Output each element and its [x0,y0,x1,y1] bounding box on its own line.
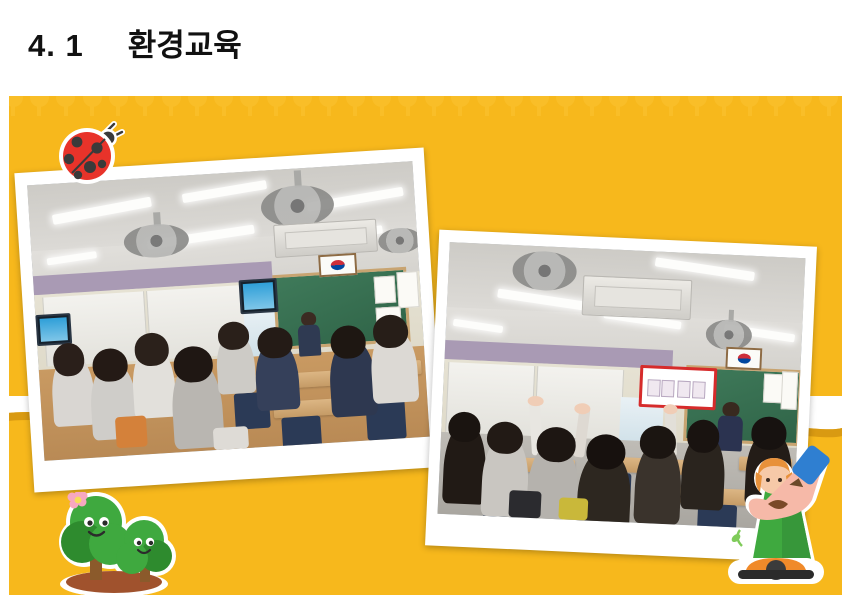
fan-blades [705,319,753,351]
student-head [640,425,677,459]
quiz-box [677,380,691,398]
fringe-dot-stem [380,102,384,116]
fringe-dot-stem [169,102,173,116]
fringe-dot-stem [432,102,436,116]
gardener-svg [712,442,840,594]
fringe-dot-stem [616,102,620,116]
fringe-dot-stem [222,102,226,116]
ceiling-ac-unit [582,275,693,320]
backpack [213,426,249,450]
fringe-dot-stem [801,102,805,116]
photo-left-image [27,161,430,461]
quiz-box [661,380,675,398]
teacher-head [722,401,740,416]
flag-circle [737,354,750,364]
fringe-dot-stem [564,102,568,116]
tree-foliage [116,542,148,574]
trees-svg [52,492,180,595]
fringe-dot-stem [485,102,489,116]
fan-blades [378,227,422,254]
pot-base [738,570,814,579]
gardener-eye [766,478,770,482]
trees-sticker: 나무 캐릭터 [52,492,180,595]
fringe-dot-stem [90,102,94,116]
tv-monitor [238,278,279,315]
ceiling-fan-icon [378,227,422,254]
ladybug-spot [91,142,102,153]
ladybug-spot [84,161,96,173]
ceiling-fan-icon [705,319,753,351]
fringe-dot-stem [511,102,515,116]
fringe-dot-stem [248,102,252,116]
fan-blades [512,250,578,291]
wall-papers [781,372,799,410]
tree-pupil [87,520,92,525]
fringe-dot-stem [695,102,699,116]
tree-pupil [137,541,141,545]
bottle-icon [789,444,831,488]
backpack [115,416,148,448]
wall-papers [373,276,396,304]
fringe-dot-stem [590,102,594,116]
left-page-margin [0,96,9,595]
ceiling-fan-icon [123,222,191,259]
fringe-dot-stem [274,102,278,116]
page-title-text: 환경교육 [128,20,242,65]
backpack [558,498,587,521]
fringe-dot-stem [301,102,305,116]
tree-pupil [149,541,153,545]
backpack [509,490,542,519]
chair [282,416,323,451]
fringe-dot-stem [748,102,752,116]
fringe-dot-stem [195,102,199,116]
photo-left-caption: 환경교육 수업 장면 1 [14,173,15,174]
fringe-dot-stem [11,102,15,116]
fringe-dot-stem [327,102,331,116]
fringe-dot-stem [643,102,647,116]
quiz-box [647,379,661,397]
ac-grill [594,285,682,310]
ladybug-spot [64,154,74,164]
ladybug-svg [52,118,126,188]
ladybug-spot [74,171,82,179]
fringe-dot-stem [537,102,541,116]
tree-pupil [102,520,107,525]
fringe-dot-stem [458,102,462,116]
student-head [257,326,294,358]
teacher-figure [294,311,324,357]
photo-right-caption: 환경교육 수업 장면 2 [439,230,440,231]
classroom-scene-left [27,161,430,461]
student-head [372,314,409,349]
gardener-eye [778,478,782,482]
fringe-dot-stem [37,102,41,116]
flag-circle [331,260,345,271]
fringe-dot-stem [143,102,147,116]
quiz-box [692,381,706,399]
tv-monitor [35,313,72,347]
fringe-dot-stem [116,102,120,116]
page-title: 4. 1 환경교육 [28,20,242,65]
ladybug-spot [98,160,106,168]
slide-page: 4. 1 환경교육 환경교육 수업 장면 1 [0,0,842,595]
fringe-dot-stem [669,102,673,116]
slide-header: 4. 1 환경교육 [0,0,842,96]
ladybug-sticker: 무당벌레 [52,118,126,188]
gardener-pot [734,558,818,580]
student-head [173,345,214,383]
korean-flag [726,347,763,370]
gardener-sticker: 화분 심기 일러스트 [712,442,840,594]
ceiling-fan-icon [512,250,578,291]
ac-grill [285,227,368,249]
page-title-number: 4. 1 [28,28,84,64]
fan-blades [123,222,191,259]
fringe-dot-stem [774,102,778,116]
fringe-dot-stem [406,102,410,116]
photo-classroom-left[interactable]: 환경교육 수업 장면 1 [14,147,443,492]
ceiling-ac-unit [273,219,377,258]
raised-hand [574,403,590,415]
wall-papers [396,271,419,307]
quiz-screen [638,365,717,410]
fringe-dot-stem [827,102,831,116]
fringe-dot-stem [722,102,726,116]
fringe-dot-stem [64,102,68,116]
korean-flag [318,253,358,277]
fringe-dot-stem [353,102,357,116]
ladybug-spot [72,137,83,148]
tv-screen [40,317,68,342]
student-head [487,421,524,455]
fringe-bar [0,114,842,124]
tv-screen [242,282,274,310]
